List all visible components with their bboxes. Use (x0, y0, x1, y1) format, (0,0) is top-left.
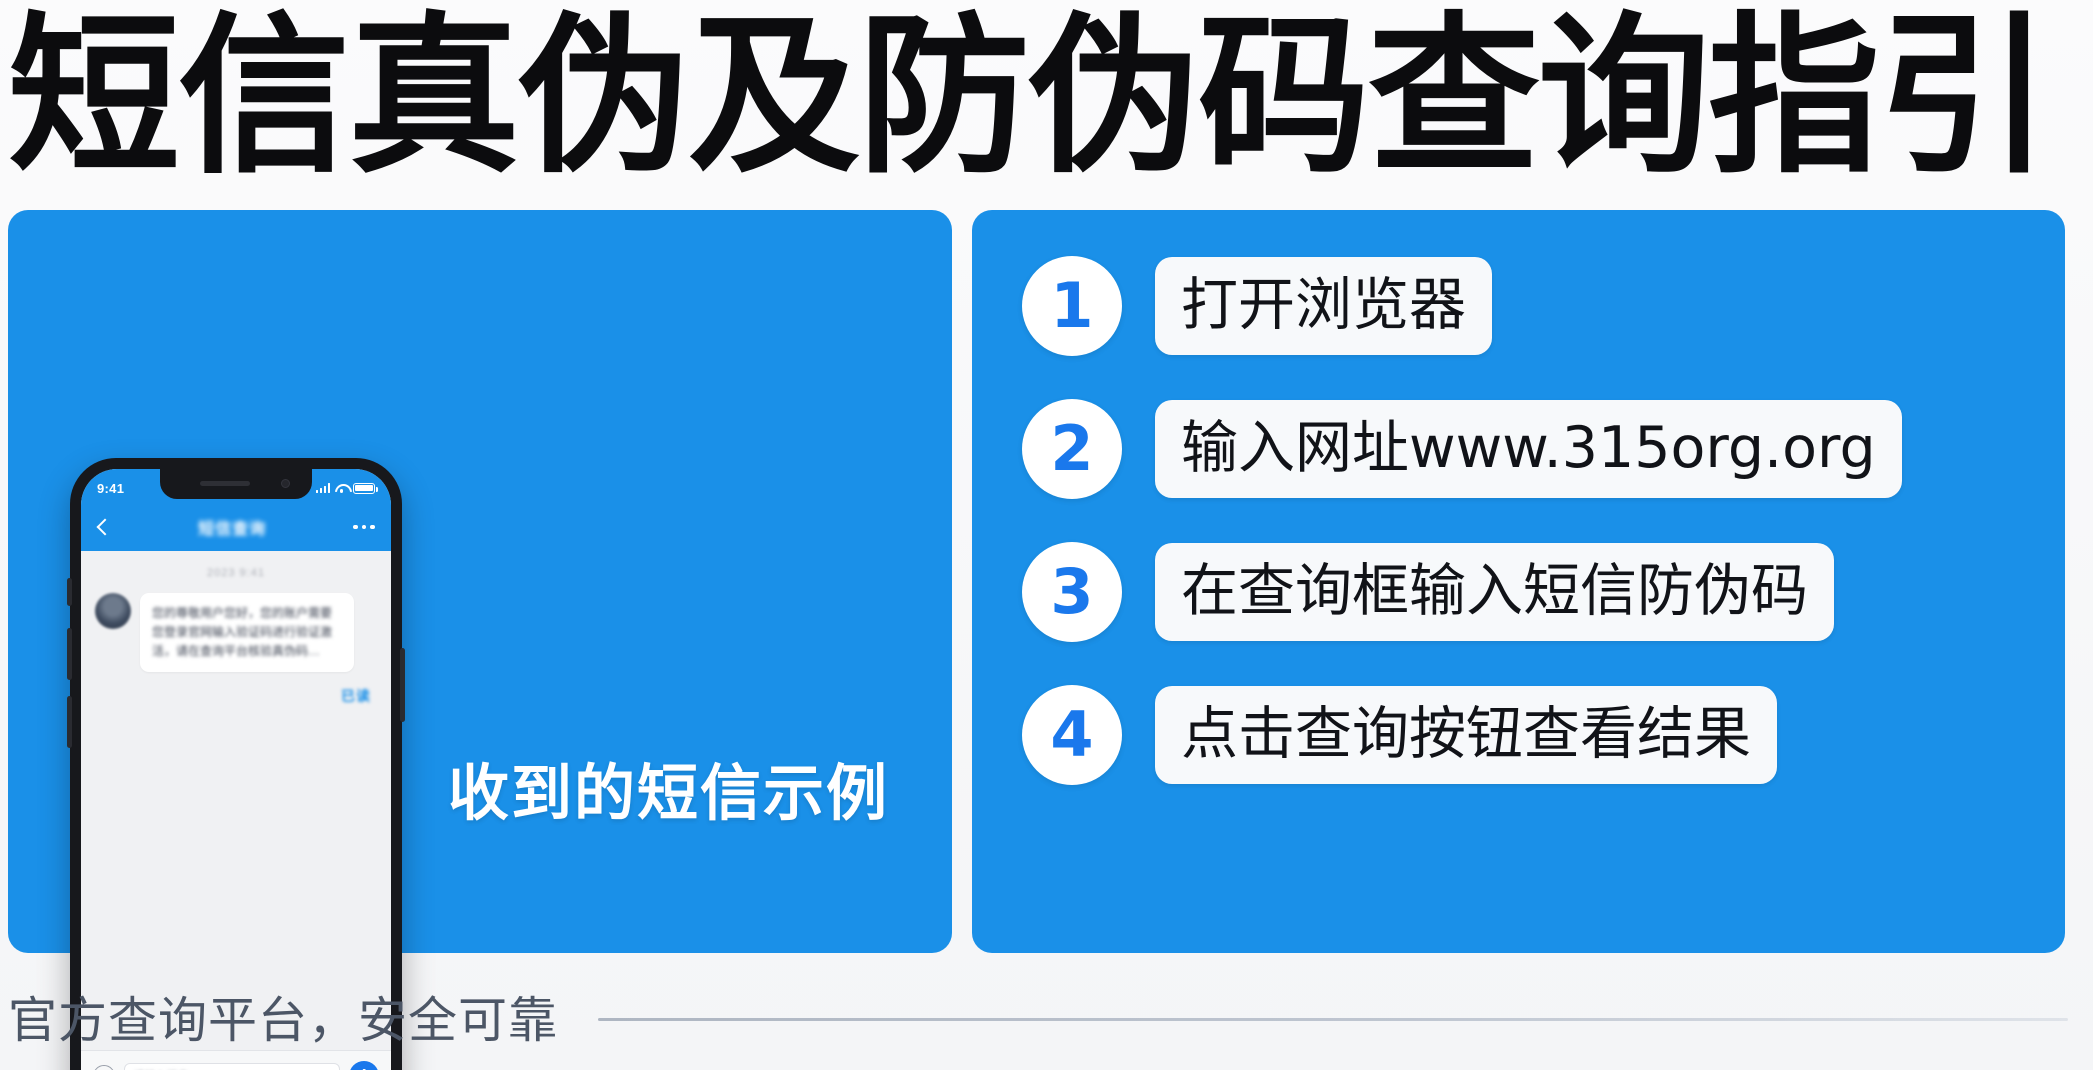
step-number-badge: 1 (1022, 256, 1122, 356)
phone-power-button (400, 648, 405, 722)
step-label: 打开浏览器 (1155, 257, 1492, 354)
footer-divider (598, 1018, 2068, 1021)
message-text: 您的尊敬用户您好，您的账户需要您登录官网输入验证码进行验证激活，请在查询平台核验… (152, 604, 342, 661)
footer: 官方查询平台，安全可靠 (8, 975, 2068, 1057)
front-camera-icon (281, 479, 290, 488)
step-label: 点击查询按钮查看结果 (1155, 686, 1777, 783)
page-title: 短信真伪及防伪码查询指引 (8, 2, 2088, 192)
message-bubble: 您的尊敬用户您好，您的账户需要您登录官网输入验证码进行验证激活，请在查询平台核验… (140, 593, 354, 672)
step-item-2: 2 输入网址www.315org.org (1022, 399, 2032, 499)
step-number-badge: 4 (1022, 685, 1122, 785)
chat-timestamp: 2023 9:41 (95, 567, 377, 579)
back-chevron-icon[interactable] (97, 519, 114, 536)
step-number-badge: 2 (1022, 399, 1122, 499)
avatar (95, 593, 131, 629)
emoji-smiley-icon[interactable] (93, 1065, 115, 1070)
step-label: 输入网址www.315org.org (1155, 400, 1902, 497)
step-label: 在查询框输入短信防伪码 (1155, 543, 1834, 640)
infographic-page: 短信真伪及防伪码查询指引 9:41 (0, 0, 2093, 1070)
phone-volume-up-button (67, 628, 72, 680)
steps-list: 1 打开浏览器 2 输入网址www.315org.org 3 在查询框输入短信防… (1022, 256, 2032, 785)
wifi-icon (335, 483, 348, 493)
message-input[interactable]: 请输入消息 (124, 1063, 340, 1070)
phone-mute-switch (67, 578, 72, 606)
left-panel-caption: 收到的短信示例 (448, 743, 889, 832)
phone-notch (160, 469, 312, 499)
step-item-1: 1 打开浏览器 (1022, 256, 2032, 356)
message-row: 您的尊敬用户您好，您的账户需要您登录官网输入验证码进行验证激活，请在查询平台核验… (95, 593, 377, 672)
earpiece-speaker-icon (200, 481, 250, 486)
message-read-sticker: 已读 (95, 686, 377, 706)
signal-bars-icon (316, 483, 331, 493)
step-item-4: 4 点击查询按钮查看结果 (1022, 685, 2032, 785)
app-bar-title: 短信查询 (198, 515, 266, 539)
status-bar-indicators (316, 483, 376, 494)
battery-icon (353, 483, 375, 494)
app-bar: 短信查询 (81, 503, 391, 551)
left-panel: 9:41 短信查询 2023 9:41 (8, 210, 952, 953)
footer-text: 官方查询平台，安全可靠 (8, 981, 558, 1052)
status-bar-time: 9:41 (97, 481, 124, 496)
more-dots-icon[interactable] (353, 525, 375, 530)
step-item-3: 3 在查询框输入短信防伪码 (1022, 542, 2032, 642)
step-number-badge: 3 (1022, 542, 1122, 642)
phone-volume-down-button (67, 696, 72, 748)
plus-icon[interactable] (349, 1061, 379, 1070)
